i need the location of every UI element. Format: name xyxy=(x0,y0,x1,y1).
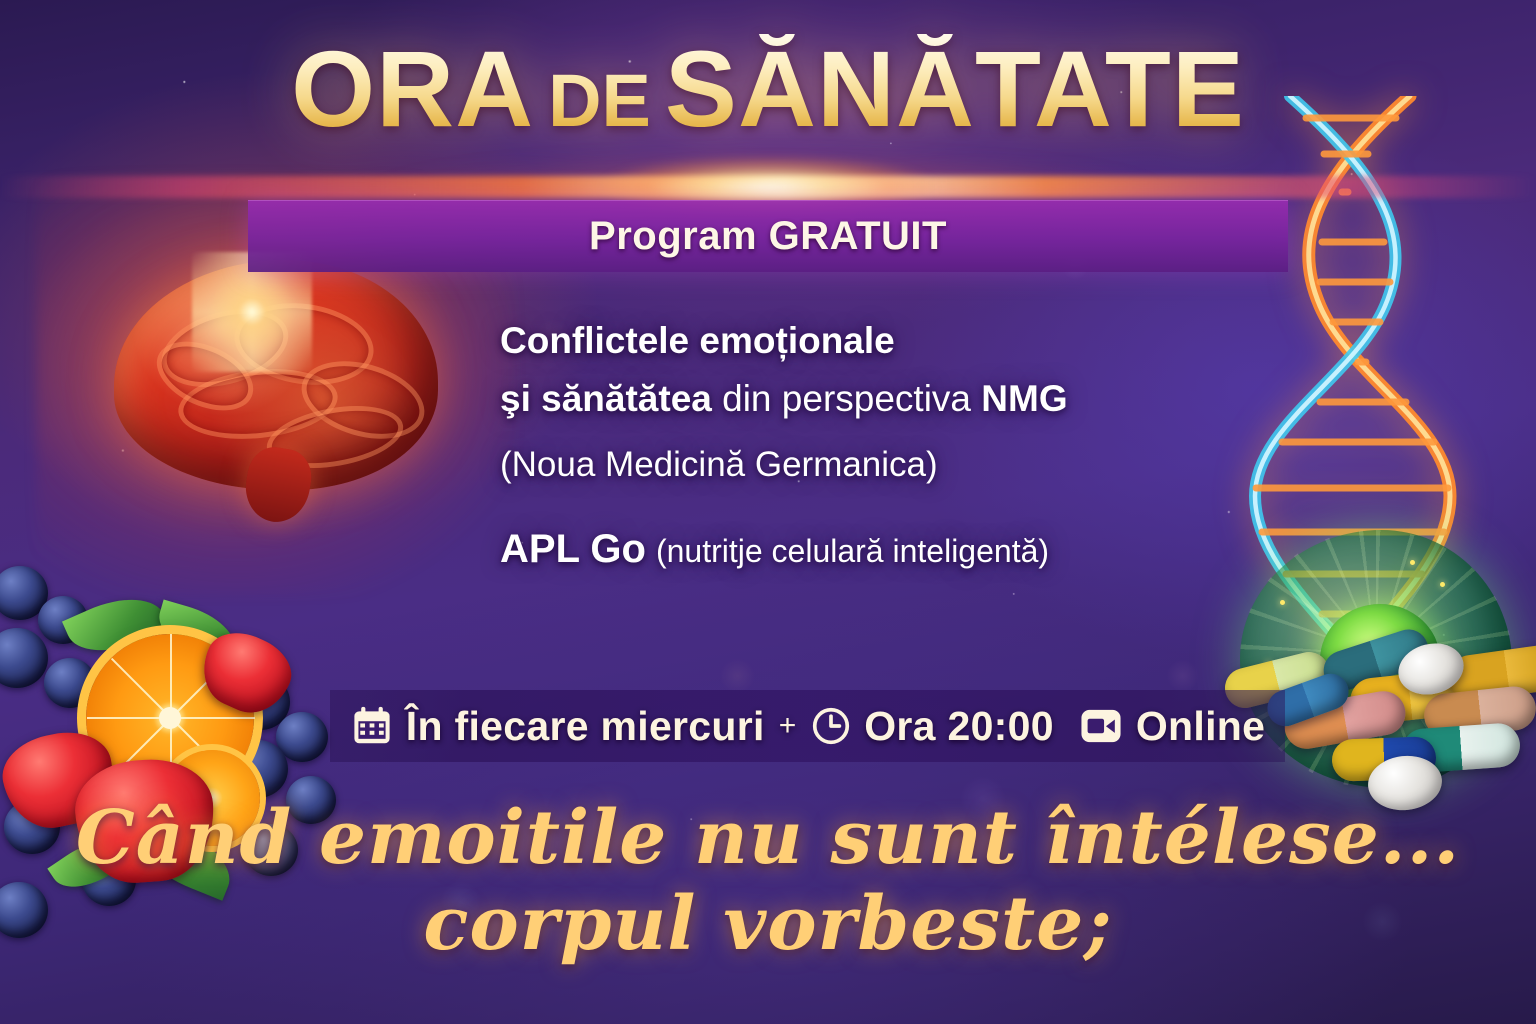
title-word-ora: ORA xyxy=(291,28,534,149)
poster-canvas: ORADESĂNĂTATE Program GRATUIT Conflictel… xyxy=(0,0,1536,1024)
time-label: Ora 20:00 xyxy=(864,703,1054,750)
copy-line-3: (Noua Medicină Germanica) xyxy=(500,437,1200,492)
event-info-bar: În fiecare miercuri + Ora 20:00 Onli xyxy=(330,690,1285,762)
info-separator: + xyxy=(779,709,797,743)
copy-line-2: şi sănătătea din perspectiva NMG xyxy=(500,370,1200,428)
program-banner: Program GRATUIT xyxy=(248,200,1288,272)
copy-line-4: APL Go(nutritje celulară inteligentă) xyxy=(500,518,1200,581)
info-time: Ora 20:00 xyxy=(810,703,1054,750)
title-word-sanatate: SĂNĂTATE xyxy=(665,28,1245,149)
copy-line-1: Conflictele emoționale xyxy=(500,312,1200,370)
info-schedule: În fiecare miercuri xyxy=(350,703,765,750)
video-camera-icon xyxy=(1078,703,1124,749)
calendar-icon xyxy=(350,704,394,748)
tagline-line-1: Când emoitile nu sunt întélese... xyxy=(0,800,1536,878)
brain-illustration xyxy=(96,236,456,536)
body-copy: Conflictele emoționale şi sănătătea din … xyxy=(500,312,1200,581)
tagline-line-2: corpul vorbeste; xyxy=(0,878,1536,971)
clock-icon xyxy=(810,705,852,747)
poster-title: ORADESĂNĂTATE xyxy=(0,34,1536,144)
title-word-de: DE xyxy=(534,59,665,142)
tagline: Când emoitile nu sunt întélese... corpul… xyxy=(0,800,1536,970)
format-label: Online xyxy=(1136,703,1265,750)
info-format: Online xyxy=(1078,703,1265,750)
banner-label: Program GRATUIT xyxy=(589,214,947,259)
schedule-day-label: În fiecare miercuri xyxy=(406,703,765,750)
